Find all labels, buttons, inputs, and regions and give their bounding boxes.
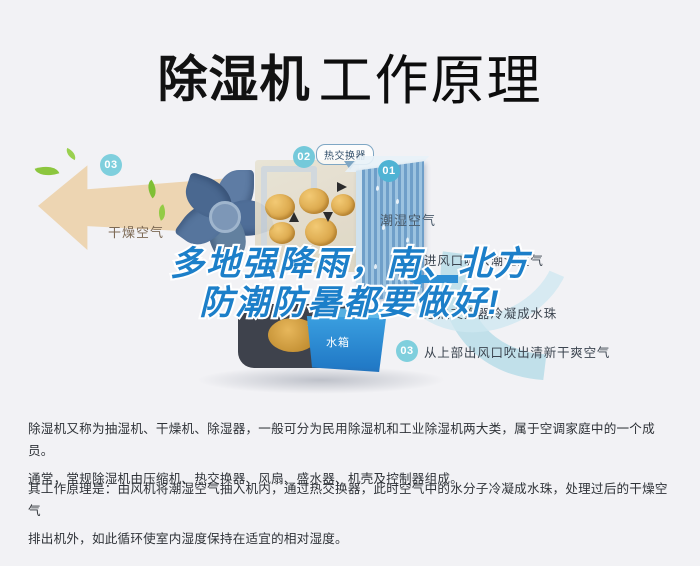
copper-coil — [331, 194, 355, 216]
condensation-drop — [396, 199, 399, 204]
paragraph-1-line-1: 除湿机又称为抽湿机、干燥机、除湿器，一般可分为民用除湿机和工业除湿机两大类，属于… — [28, 418, 674, 463]
page-root: 除湿机工作原理 干燥空气 03 — [0, 0, 700, 566]
page-title: 除湿机工作原理 — [0, 36, 700, 115]
compressor-coil-assembly — [255, 160, 359, 272]
fan-hub — [209, 201, 241, 233]
step-text-02: 经热交换器冷凝成水珠 — [424, 303, 557, 322]
copper-coil — [269, 222, 295, 244]
condensation-drop — [406, 237, 409, 242]
flow-arrow-down-icon — [323, 212, 333, 222]
step-row-03: 03 从上部出风口吹出清新干爽空气 — [396, 340, 610, 362]
step-badge-01: 01 — [378, 160, 400, 182]
page-title-light: 工作原理 — [319, 51, 543, 111]
dehumidifier-diagram: 干燥空气 03 02 — [0, 118, 700, 408]
condensation-drop — [376, 186, 379, 191]
page-title-bold: 除湿机 — [158, 52, 311, 108]
copper-coil — [299, 188, 329, 214]
leaf-icon — [64, 148, 78, 160]
dry-air-label: 干燥空气 — [108, 222, 164, 241]
step-badge-03-left: 03 — [100, 154, 122, 176]
step-text-01: 进风口吸入潮湿空气 — [424, 250, 544, 269]
copper-coil — [305, 218, 337, 246]
step-text-03: 从上部出风口吹出清新干爽空气 — [424, 342, 610, 361]
water-tank-label: 水箱 — [326, 334, 350, 350]
flow-arrow-up-icon — [289, 212, 299, 222]
step-badge-02: 02 — [293, 146, 315, 168]
paragraph-2-line-2: 排出机外，如此循环使室内湿度保持在适宜的相对湿度。 — [28, 528, 674, 550]
step-badge-03-right: 03 — [396, 340, 418, 362]
drop-shadow — [196, 366, 446, 394]
body-paragraph-2: 其工作原理是：由风机将潮湿空气抽入机内，通过热交换器，此时空气中的水分子冷凝成水… — [28, 478, 674, 555]
condensation-drop — [400, 276, 403, 281]
condensation-drop — [374, 264, 377, 269]
paragraph-2-line-1: 其工作原理是：由风机将潮湿空气抽入机内，通过热交换器，此时空气中的水分子冷凝成水… — [28, 478, 674, 523]
leaf-icon — [35, 162, 60, 180]
flow-arrow-right-icon — [337, 182, 347, 192]
humid-air-label: 潮湿空气 — [380, 210, 436, 229]
